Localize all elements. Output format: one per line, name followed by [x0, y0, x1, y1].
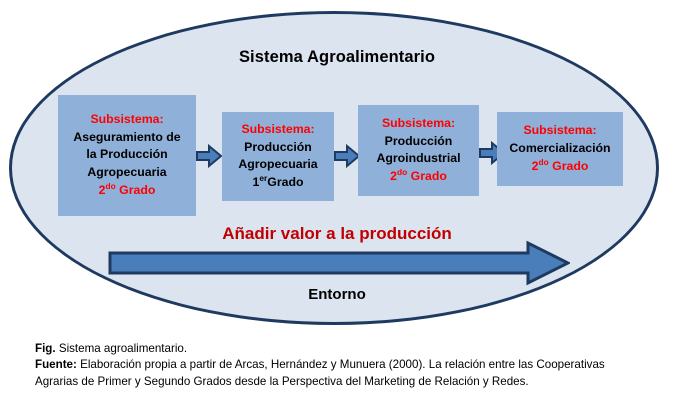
subsystem-heading: Subsistema:: [523, 122, 596, 139]
figure-caption: Fig. Sistema agroalimentario. Fuente: El…: [35, 341, 650, 390]
subsystem-line: la Producción: [86, 146, 167, 163]
subsystem-box-produccion-agroindustrial[interactable]: Subsistema: Producción Agroindustrial 2d…: [358, 105, 479, 196]
caption-fig-line: Fig. Sistema agroalimentario.: [35, 341, 650, 357]
subsystem-heading: Subsistema:: [90, 111, 163, 128]
subsystem-box-produccion-agropecuaria[interactable]: Subsistema: Producción Agropecuaria 1erG…: [222, 112, 334, 201]
subsystem-heading: Subsistema:: [241, 121, 314, 138]
figure-canvas: Sistema Agroalimentario Subsistema: Aseg…: [0, 0, 674, 420]
subsystem-line: Agroindustrial: [376, 150, 460, 167]
subsystem-box-comercializacion[interactable]: Subsistema: Comercialización 2do Grado: [497, 112, 623, 186]
caption-fig-label: Fig.: [35, 342, 56, 355]
subsystem-line: Producción: [385, 133, 453, 150]
subsystem-line: Comercialización: [509, 140, 610, 157]
subsystem-box-aseguramiento[interactable]: Subsistema: Aseguramiento de la Producci…: [58, 95, 196, 216]
environment-label: Entorno: [0, 286, 674, 303]
caption-source-line: Fuente: Elaboración propia a partir de A…: [35, 357, 650, 390]
right-arrow-icon: [196, 143, 222, 169]
subsystem-line: Agropecuaria: [238, 156, 317, 173]
subsystem-grade: 2do Grado: [99, 181, 156, 200]
caption-source-text: Elaboración propia a partir de Arcas, He…: [35, 358, 605, 387]
subsystem-grade: 2do Grado: [532, 157, 589, 176]
subsystem-line: Aseguramiento de: [73, 129, 180, 146]
subsystem-grade: 2do Grado: [390, 167, 447, 186]
subsystem-grade: 1erGrado: [253, 173, 304, 192]
subsystem-line: Producción: [244, 139, 312, 156]
long-right-arrow-icon: [108, 240, 570, 286]
agrifood-system-diagram: Sistema Agroalimentario Subsistema: Aseg…: [0, 0, 674, 332]
caption-source-label: Fuente:: [35, 358, 77, 371]
page-title: Sistema Agroalimentario: [0, 48, 674, 67]
subsystem-line: Agropecuaria: [87, 164, 166, 181]
subsystem-heading: Subsistema:: [382, 115, 455, 132]
caption-fig-text: Sistema agroalimentario.: [56, 342, 187, 355]
right-arrow-icon: [334, 143, 360, 169]
